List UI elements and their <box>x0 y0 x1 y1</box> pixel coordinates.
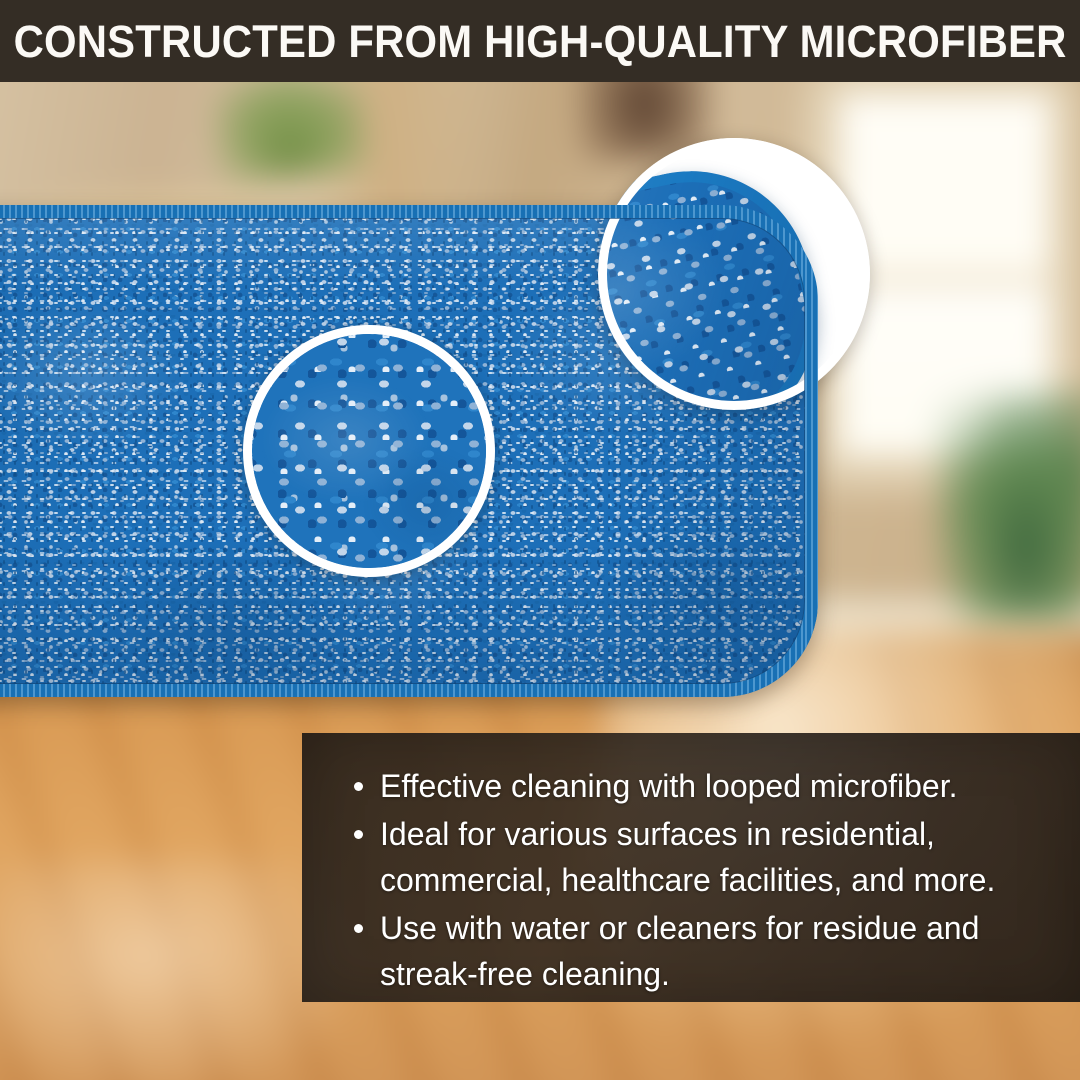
page-title: CONSTRUCTED FROM HIGH-QUALITY MICROFIBER <box>14 19 1067 64</box>
mop-pad <box>0 205 818 697</box>
floor-light-reflection-secondary <box>0 860 340 1080</box>
window-mullion <box>840 275 1050 287</box>
feature-list: Effective cleaning with looped microfibe… <box>302 733 1080 997</box>
list-item: Effective cleaning with looped microfibe… <box>354 763 1046 809</box>
list-item: Use with water or cleaners for residue a… <box>354 905 1046 997</box>
houseplant-foreground-icon <box>935 390 1080 620</box>
list-item: Ideal for various surfaces in residentia… <box>354 811 1046 903</box>
feature-callout-box: Effective cleaning with looped microfibe… <box>302 733 1080 1002</box>
mop-pad-serged-binding <box>0 205 818 697</box>
product-feature-image: CONSTRUCTED FROM HIGH-QUALITY MICROFIBER… <box>0 0 1080 1080</box>
header-banner: CONSTRUCTED FROM HIGH-QUALITY MICROFIBER <box>0 0 1080 82</box>
